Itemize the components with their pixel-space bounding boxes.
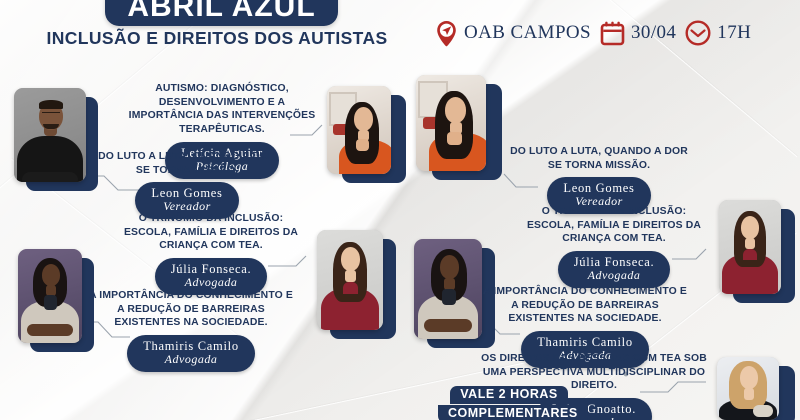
badge-line-2: COMPLEMENTARES — [438, 405, 588, 420]
photo-leticia-aguiar-b — [416, 75, 486, 171]
talk-topic: DO LUTO A LUTA, QUANDO A DOR SE TORNA MI… — [96, 150, 278, 177]
speaker-pill: Júlia Fonseca. Advogada — [558, 251, 671, 288]
poster-canvas: ABRIL AZUL INCLUSÃO E DIREITOS DOS AUTIS… — [0, 0, 800, 420]
complementary-hours-badge: VALE 2 HORAS COMPLEMENTARES — [438, 385, 580, 420]
talk-topic: O TRINÔMIO DA INCLUSÃO: ESCOLA, FAMÍLIA … — [521, 205, 707, 246]
photo-julia-fonseca-b — [719, 200, 781, 294]
talk-topic: DO LUTO A LUTA, QUANDO A DOR SE TORNA MI… — [508, 145, 690, 172]
photo-thamiris-camilo-b — [18, 249, 82, 343]
photo-leticia-aguiar-a — [327, 86, 391, 174]
speaker-name: Thamiris Camilo — [537, 335, 633, 349]
speaker-name: Thamiris Camilo — [143, 339, 239, 353]
speaker-name: Júlia Fonseca. — [171, 262, 252, 276]
speaker-role: Advogada — [143, 353, 239, 367]
talk-trinomio-left: O TRINÔMIO DA INCLUSÃO: ESCOLA, FAMÍLIA … — [118, 212, 304, 295]
speaker-name: Júlia Fonseca. — [574, 255, 655, 269]
talk-topic: A IMPORTÂNCIA DO CONHECIMENTO E A REDUÇÃ… — [88, 289, 294, 330]
talk-trinomio-right: O TRINÔMIO DA INCLUSÃO: ESCOLA, FAMÍLIA … — [521, 205, 707, 288]
speaker-name: Leon Gomes — [151, 186, 222, 200]
photo-leon-gomes — [14, 88, 86, 182]
badge-line-1: VALE 2 HORAS — [450, 386, 567, 404]
photo-julia-fonseca-a — [317, 230, 383, 330]
talk-conhecimento-left: A IMPORTÂNCIA DO CONHECIMENTO E A REDUÇÃ… — [88, 289, 294, 372]
talk-luto-left: DO LUTO A LUTA, QUANDO A DOR SE TORNA MI… — [96, 150, 278, 219]
speaker-role: Advogada — [171, 276, 252, 290]
talk-topic: O TRINÔMIO DA INCLUSÃO: ESCOLA, FAMÍLIA … — [118, 212, 304, 253]
talk-topic: AUTISMO: DIAGNÓSTICO, DESENVOLVIMENTO E … — [122, 82, 322, 137]
speaker-name: Leon Gomes — [563, 181, 634, 195]
speaker-role: Advogada — [574, 269, 655, 283]
talk-topic: A IMPORTÂNCIA DO CONHECIMENTO E A REDUÇÃ… — [482, 285, 688, 326]
photo-thamiris-camilo-a — [414, 239, 482, 339]
talk-luto-right: DO LUTO A LUTA, QUANDO A DOR SE TORNA MI… — [508, 145, 690, 214]
speaker-pill: Thamiris Camilo Advogada — [127, 335, 255, 372]
photo-laiza-gnoatto — [717, 357, 779, 420]
